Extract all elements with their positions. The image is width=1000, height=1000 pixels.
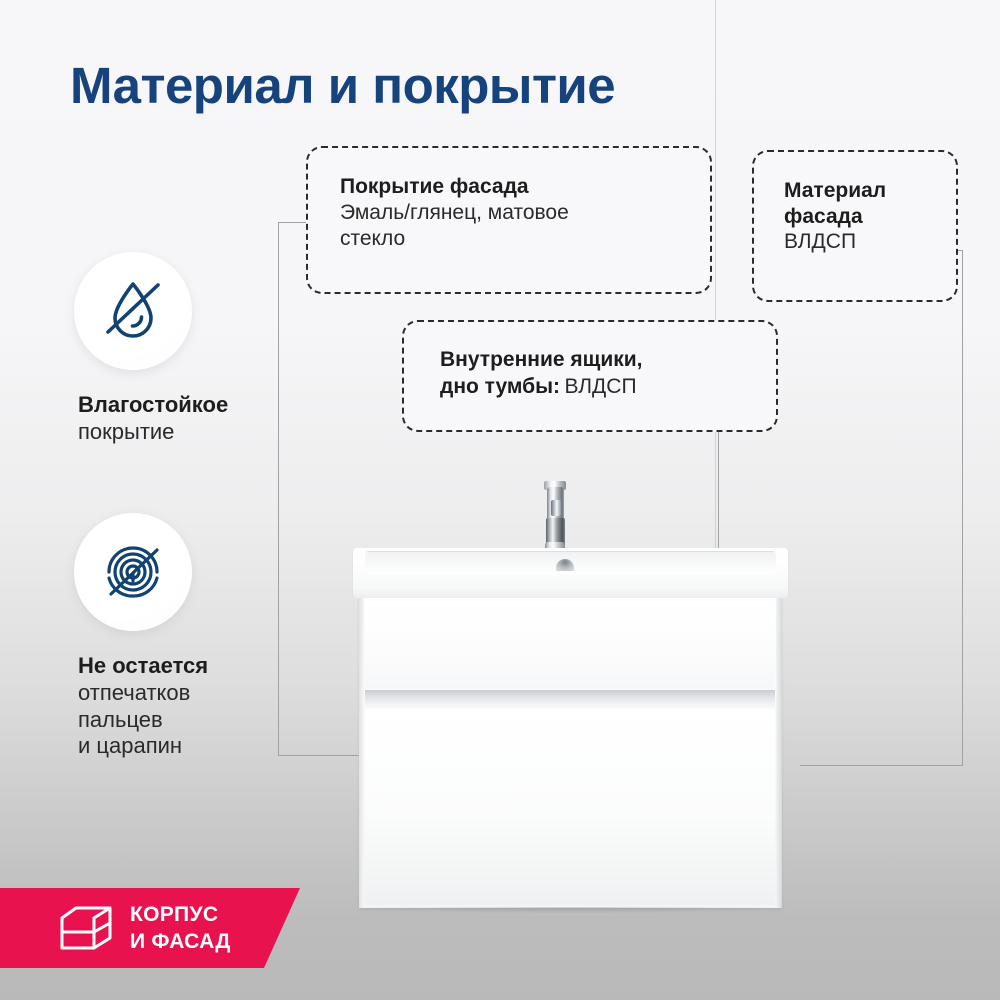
banner-icon-wrap <box>58 904 114 959</box>
cabinet-side-right <box>776 598 782 908</box>
callout-inner-drawers-line2: дно тумбы: ВЛДСП <box>440 373 752 400</box>
callout-facade-material-title-line2: фасада <box>784 204 938 230</box>
feature-fingerprints-label-line3: и царапин <box>78 733 308 760</box>
callout-inner-drawers-title-line1: Внутренние ящики, <box>440 346 752 373</box>
leader-line-right-vertical <box>962 250 963 766</box>
cabinet-box-icon <box>58 904 114 954</box>
feature-fingerprints-label-line1: отпечатков <box>78 680 308 707</box>
callout-inner-drawers-value: ВЛДСП <box>565 375 637 398</box>
feature-moisture-label: Влагостойкое покрытие <box>78 392 308 446</box>
feature-moisture-circle <box>74 252 192 370</box>
callout-facade-coating-body-line2: стекло <box>340 226 684 252</box>
basin-lip <box>353 588 788 598</box>
fingerprint-crossed-icon <box>95 534 171 610</box>
faucet-lever <box>551 500 561 516</box>
callout-facade-coating-title: Покрытие фасада <box>340 174 684 200</box>
cabinet-shadow <box>364 907 774 913</box>
page-title: Материал и покрытие <box>70 56 615 115</box>
banner-line-2: И ФАСАД <box>130 929 231 956</box>
feature-moisture-label-rest: покрытие <box>78 419 308 446</box>
callout-facade-material-title-line1: Материал <box>784 178 938 204</box>
feature-moisture-label-strong: Влагостойкое <box>78 392 308 419</box>
callout-facade-material: Материал фасада ВЛДСП <box>752 150 958 302</box>
water-drop-crossed-icon <box>96 274 170 348</box>
product-image <box>340 470 800 940</box>
banner-line-1: КОРПУС <box>130 902 231 929</box>
banner-text: КОРПУС И ФАСАД <box>130 902 231 956</box>
feature-fingerprints-circle <box>74 513 192 631</box>
feature-fingerprints-label: Не остается отпечатков пальцев и царапин <box>78 653 308 760</box>
callout-facade-coating-body-line1: Эмаль/глянец, матовое <box>340 200 684 226</box>
feature-fingerprints-label-strong: Не остается <box>78 653 308 680</box>
cabinet-side-left <box>359 598 364 908</box>
drawer-handle-gap <box>365 690 775 708</box>
overflow-hole <box>556 559 574 571</box>
bottom-banner: КОРПУС И ФАСАД <box>0 888 300 968</box>
feature-fingerprints-label-line2: пальцев <box>78 707 308 734</box>
callout-facade-coating: Покрытие фасада Эмаль/глянец, матовое ст… <box>306 146 712 294</box>
callout-inner-drawers-title-line2: дно тумбы: <box>440 375 560 398</box>
drawer-bottom <box>365 709 775 905</box>
callout-facade-material-body: ВЛДСП <box>784 229 938 255</box>
leader-line-left-top-horizontal <box>278 222 308 223</box>
callout-inner-drawers: Внутренние ящики, дно тумбы: ВЛДСП <box>402 320 778 432</box>
vanity-cabinet <box>359 598 782 908</box>
drawer-top <box>365 601 775 689</box>
leader-line-right-bottom-horizontal <box>800 765 963 766</box>
infographic-canvas: Материал и покрытие Покрытие фасад <box>0 0 1000 1000</box>
